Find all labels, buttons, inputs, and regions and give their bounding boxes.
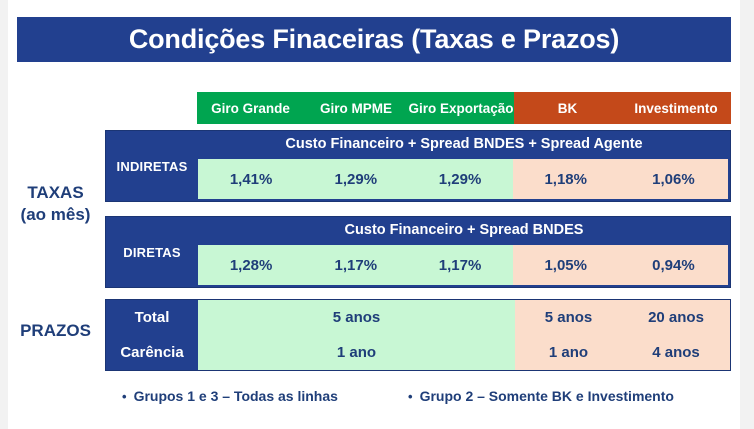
column-header-label: Giro MPME (320, 101, 392, 116)
rate-block-indiretas: INDIRETAS Custo Financeiro + Spread BNDE… (105, 130, 731, 202)
bullet-icon: • (122, 390, 127, 403)
rate-cell-diretas-investimento: 0,94% (619, 245, 728, 285)
section-label-taxas-line1: TAXAS (8, 182, 103, 204)
page-title: Condições Finaceiras (Taxas e Prazos) (129, 24, 619, 55)
column-header-strip: Giro Grande Giro MPME Giro Exportação BK… (197, 92, 731, 124)
prazos-carencia-giro: 1 ano (198, 335, 515, 370)
prazos-row-labels: Total Carência (106, 300, 198, 370)
prazos-col-bk: 5 anos 1 ano (515, 300, 622, 370)
rate-cell-indiretas-giro-grande: 1,41% (198, 159, 304, 199)
prazos-col-investimento: 20 anos 4 anos (622, 300, 730, 370)
slide-canvas: Condições Finaceiras (Taxas e Prazos) Gi… (0, 0, 754, 429)
prazos-row-label-carencia: Carência (106, 335, 198, 370)
column-header-giro-mpme: Giro MPME (304, 92, 408, 124)
prazos-row-label-total: Total (106, 300, 198, 335)
value-row-diretas: 1,28% 1,17% 1,17% 1,05% 0,94% (198, 245, 728, 285)
section-label-prazos: PRAZOS (8, 320, 103, 342)
column-header-label: Giro Grande (211, 101, 290, 116)
bullet-icon: • (408, 390, 413, 403)
left-page-edge (0, 0, 8, 429)
formula-indiretas: Custo Financeiro + Spread BNDES + Spread… (198, 131, 730, 157)
prazos-carencia-investimento: 4 anos (622, 335, 730, 370)
rate-cell-diretas-giro-exportacao: 1,17% (407, 245, 512, 285)
column-header-label: Investimento (634, 101, 717, 116)
rate-cell-diretas-bk: 1,05% (513, 245, 619, 285)
rate-cell-diretas-giro-mpme: 1,17% (304, 245, 407, 285)
prazos-peach-group: 5 anos 1 ano 20 anos 4 anos (515, 300, 730, 370)
prazos-total-bk: 5 anos (515, 300, 622, 335)
section-label-taxas: TAXAS (ao mês) (8, 182, 103, 226)
prazos-total-investimento: 20 anos (622, 300, 730, 335)
prazos-body: 5 anos 1 ano 5 anos 1 ano 20 anos 4 anos (198, 300, 730, 370)
prazos-block: Total Carência 5 anos 1 ano 5 anos 1 ano… (105, 299, 731, 371)
row-label-indiretas: INDIRETAS (106, 131, 198, 201)
prazos-carencia-bk: 1 ano (515, 335, 622, 370)
column-header-label: BK (558, 101, 578, 116)
footnote-grupo-2: • Grupo 2 – Somente BK e Investimento (408, 388, 674, 404)
rate-cell-diretas-giro-grande: 1,28% (198, 245, 304, 285)
footnote-grupos-1-3: • Grupos 1 e 3 – Todas as linhas (122, 388, 338, 404)
value-row-indiretas: 1,41% 1,29% 1,29% 1,18% 1,06% (198, 159, 728, 199)
rate-block-diretas: DIRETAS Custo Financeiro + Spread BNDES … (105, 216, 731, 288)
footnote-text: Grupo 2 – Somente BK e Investimento (420, 388, 674, 404)
column-header-giro-exportacao: Giro Exportação (408, 92, 514, 124)
footnote-text: Grupos 1 e 3 – Todas as linhas (134, 388, 338, 404)
right-page-edge (740, 0, 754, 429)
rate-cell-indiretas-giro-mpme: 1,29% (304, 159, 407, 199)
rate-cell-indiretas-giro-exportacao: 1,29% (407, 159, 512, 199)
column-header-giro-grande: Giro Grande (197, 92, 304, 124)
slide-title-banner: Condições Finaceiras (Taxas e Prazos) (17, 17, 731, 62)
prazos-giro-group: 5 anos 1 ano (198, 300, 515, 370)
rate-cell-indiretas-bk: 1,18% (513, 159, 619, 199)
section-label-taxas-line2: (ao mês) (8, 204, 103, 226)
row-label-diretas: DIRETAS (106, 217, 198, 287)
formula-diretas: Custo Financeiro + Spread BNDES (198, 217, 730, 243)
column-header-investimento: Investimento (621, 92, 731, 124)
column-header-bk: BK (514, 92, 621, 124)
column-header-label: Giro Exportação (408, 101, 513, 116)
prazos-total-giro: 5 anos (198, 300, 515, 335)
rate-cell-indiretas-investimento: 1,06% (619, 159, 728, 199)
